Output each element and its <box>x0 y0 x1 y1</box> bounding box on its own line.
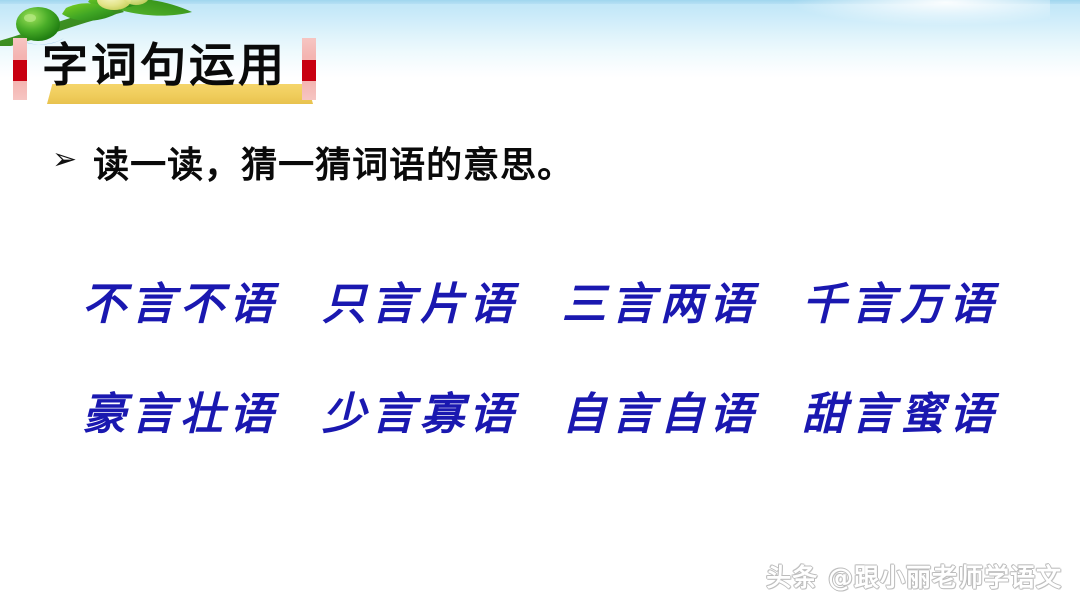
arrow-bullet-icon: ➢ <box>52 145 77 175</box>
idiom-item: 豪言壮语 <box>82 378 278 442</box>
instruction-text: 读一读，猜一猜词语的意思。 <box>93 136 574 188</box>
idiom-row: 不言不语 只言片语 三言两语 千言万语 <box>0 268 1080 332</box>
idiom-row: 豪言壮语 少言寡语 自言自语 甜言蜜语 <box>0 378 1080 442</box>
title-right-bar-decoration <box>302 38 316 100</box>
idiom-item: 不言不语 <box>82 268 278 332</box>
idiom-list: 不言不语 只言片语 三言两语 千言万语 豪言壮语 少言寡语 自言自语 甜言蜜语 <box>0 268 1080 488</box>
section-title-block: 字词句运用 <box>10 36 360 106</box>
idiom-item: 甜言蜜语 <box>802 378 998 442</box>
idiom-item: 少言寡语 <box>322 378 518 442</box>
banner-haze-glow <box>790 0 1050 26</box>
idiom-item: 只言片语 <box>322 268 518 332</box>
idiom-item: 千言万语 <box>802 268 998 332</box>
watermark: 头条 @跟小丽老师学语文 <box>766 558 1062 594</box>
title-right-bar-core <box>302 60 316 81</box>
slide-canvas: 字词句运用 ➢ 读一读，猜一猜词语的意思。 不言不语 只言片语 三言两语 千言万… <box>0 0 1080 608</box>
title-left-bar-core <box>13 60 27 81</box>
title-left-bar-decoration <box>13 38 27 100</box>
instruction-row: ➢ 读一读，猜一猜词语的意思。 <box>52 136 574 188</box>
page-title: 字词句运用 <box>42 30 287 100</box>
idiom-item: 自言自语 <box>562 378 758 442</box>
idiom-item: 三言两语 <box>562 268 758 332</box>
